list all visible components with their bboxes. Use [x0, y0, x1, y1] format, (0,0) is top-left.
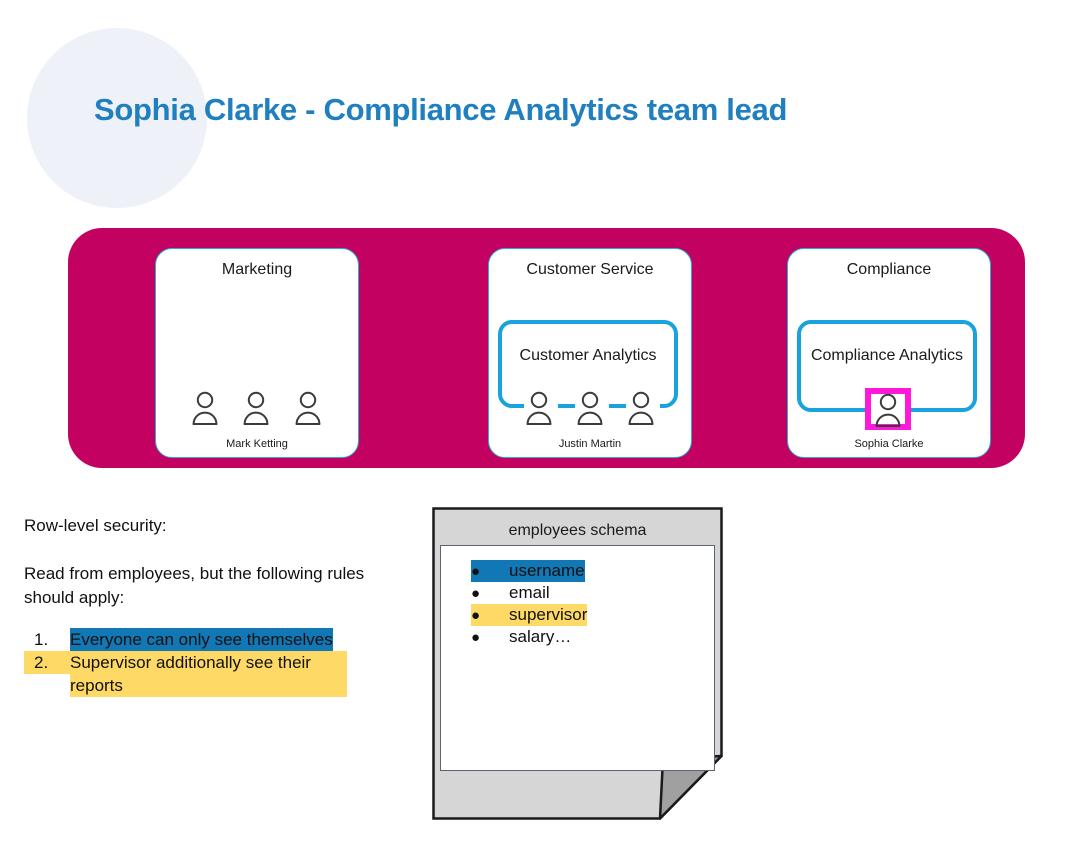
bullet-icon: ●: [471, 561, 509, 583]
inner-team-label-customer-analytics: Customer Analytics: [498, 346, 678, 366]
inner-team-label-compliance-analytics: Compliance Analytics: [797, 346, 977, 366]
dept-card-marketing[interactable]: Marketing Mark Ketting: [155, 248, 359, 458]
schema-document: employees schema ● username ● email ● su…: [432, 507, 723, 820]
schema-field-list: ● username ● email ● supervisor ● salary…: [471, 560, 706, 648]
person-icon: [524, 391, 554, 425]
rules-list: 1. Everyone can only see themselves 2. S…: [24, 628, 404, 697]
schema-field-row: ● username: [471, 560, 585, 582]
person-icon: [626, 391, 656, 425]
bullet-icon: ●: [471, 627, 509, 649]
schema-field-row: ● salary…: [471, 626, 706, 648]
rule-item: 2. Supervisor additionally see their rep…: [24, 651, 404, 697]
dept-person-name: Sophia Clarke: [788, 438, 990, 450]
schema-field-row: ● supervisor: [471, 604, 587, 626]
dept-person-name: Justin Martin: [489, 438, 691, 450]
person-icon: [293, 391, 323, 425]
rule-item: 1. Everyone can only see themselves: [24, 628, 404, 651]
rls-heading: Row-level security:: [24, 516, 167, 536]
person-icon: [241, 391, 271, 425]
rule-text: Supervisor additionally see their report…: [70, 651, 347, 697]
dept-title: Compliance: [788, 261, 990, 279]
rule-number: 1.: [24, 628, 70, 651]
schema-field-name: salary…: [509, 626, 571, 648]
page-title: Sophia Clarke - Compliance Analytics tea…: [94, 92, 787, 128]
schema-field-name: username: [509, 560, 585, 582]
person-icon: [575, 391, 605, 425]
bullet-icon: ●: [471, 583, 509, 605]
dept-person-name: Mark Ketting: [156, 438, 358, 450]
person-icon: [190, 391, 220, 425]
rule-text: Everyone can only see themselves: [70, 628, 333, 651]
rls-body: Read from employees, but the following r…: [24, 562, 384, 610]
schema-field-name: supervisor: [509, 604, 587, 626]
dept-title: Customer Service: [489, 261, 691, 279]
bullet-icon: ●: [471, 605, 509, 627]
schema-field-name: email: [509, 582, 550, 604]
rule-number: 2.: [24, 651, 70, 674]
dept-title: Marketing: [156, 261, 358, 279]
schema-field-row: ● email: [471, 582, 706, 604]
schema-title: employees schema: [432, 522, 723, 540]
person-icon: [873, 393, 903, 427]
schema-field-panel: ● username ● email ● supervisor ● salary…: [440, 545, 715, 771]
